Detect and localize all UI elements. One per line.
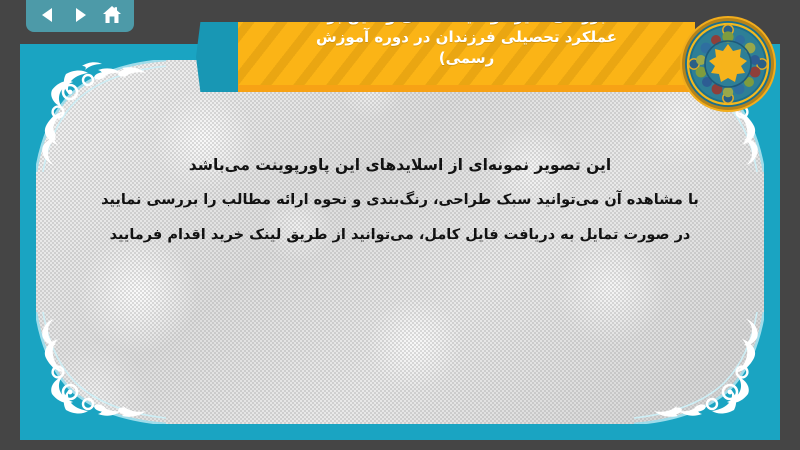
slide-canvas: این تصویر نمونه‌ای از اسلایدهای این پاور… [36, 60, 764, 424]
persian-medallion-icon [678, 14, 778, 114]
home-button[interactable] [99, 3, 125, 27]
navigation-bar [26, 0, 134, 32]
title-line-2: عملکرد تحصیلی فرزندان در دوره آموزش [316, 28, 617, 46]
banner-body: بررسی تأثیر موقعیت شغلی والدین بر عملکرد… [238, 22, 695, 92]
corner-arabesque-bottom-right-icon [634, 312, 764, 424]
forward-button[interactable] [67, 3, 93, 27]
slide-viewer: این تصویر نمونه‌ای از اسلایدهای این پاور… [0, 0, 800, 450]
home-icon [101, 5, 123, 25]
forward-icon [70, 5, 90, 25]
title-line-1: بررسی تأثیر موقعیت شغلی والدین بر [327, 22, 605, 25]
banner-arrow-shape [196, 22, 240, 92]
body-line-3: در صورت تمایل به دریافت فایل کامل، می‌تو… [62, 218, 738, 253]
body-line-2: با مشاهده آن می‌توانید سبک طراحی، رنگ‌بن… [62, 183, 738, 218]
back-button[interactable] [35, 3, 61, 27]
title-line-3: رسمی) [439, 49, 494, 67]
slide-body-text: این تصویر نمونه‌ای از اسلایدهای این پاور… [62, 148, 738, 253]
slide-title: بررسی تأثیر موقعیت شغلی والدین بر عملکرد… [238, 22, 695, 69]
corner-arabesque-bottom-left-icon [36, 312, 166, 424]
body-line-1: این تصویر نمونه‌ای از اسلایدهای این پاور… [62, 148, 738, 183]
slide-frame: این تصویر نمونه‌ای از اسلایدهای این پاور… [20, 44, 780, 440]
back-icon [38, 5, 58, 25]
